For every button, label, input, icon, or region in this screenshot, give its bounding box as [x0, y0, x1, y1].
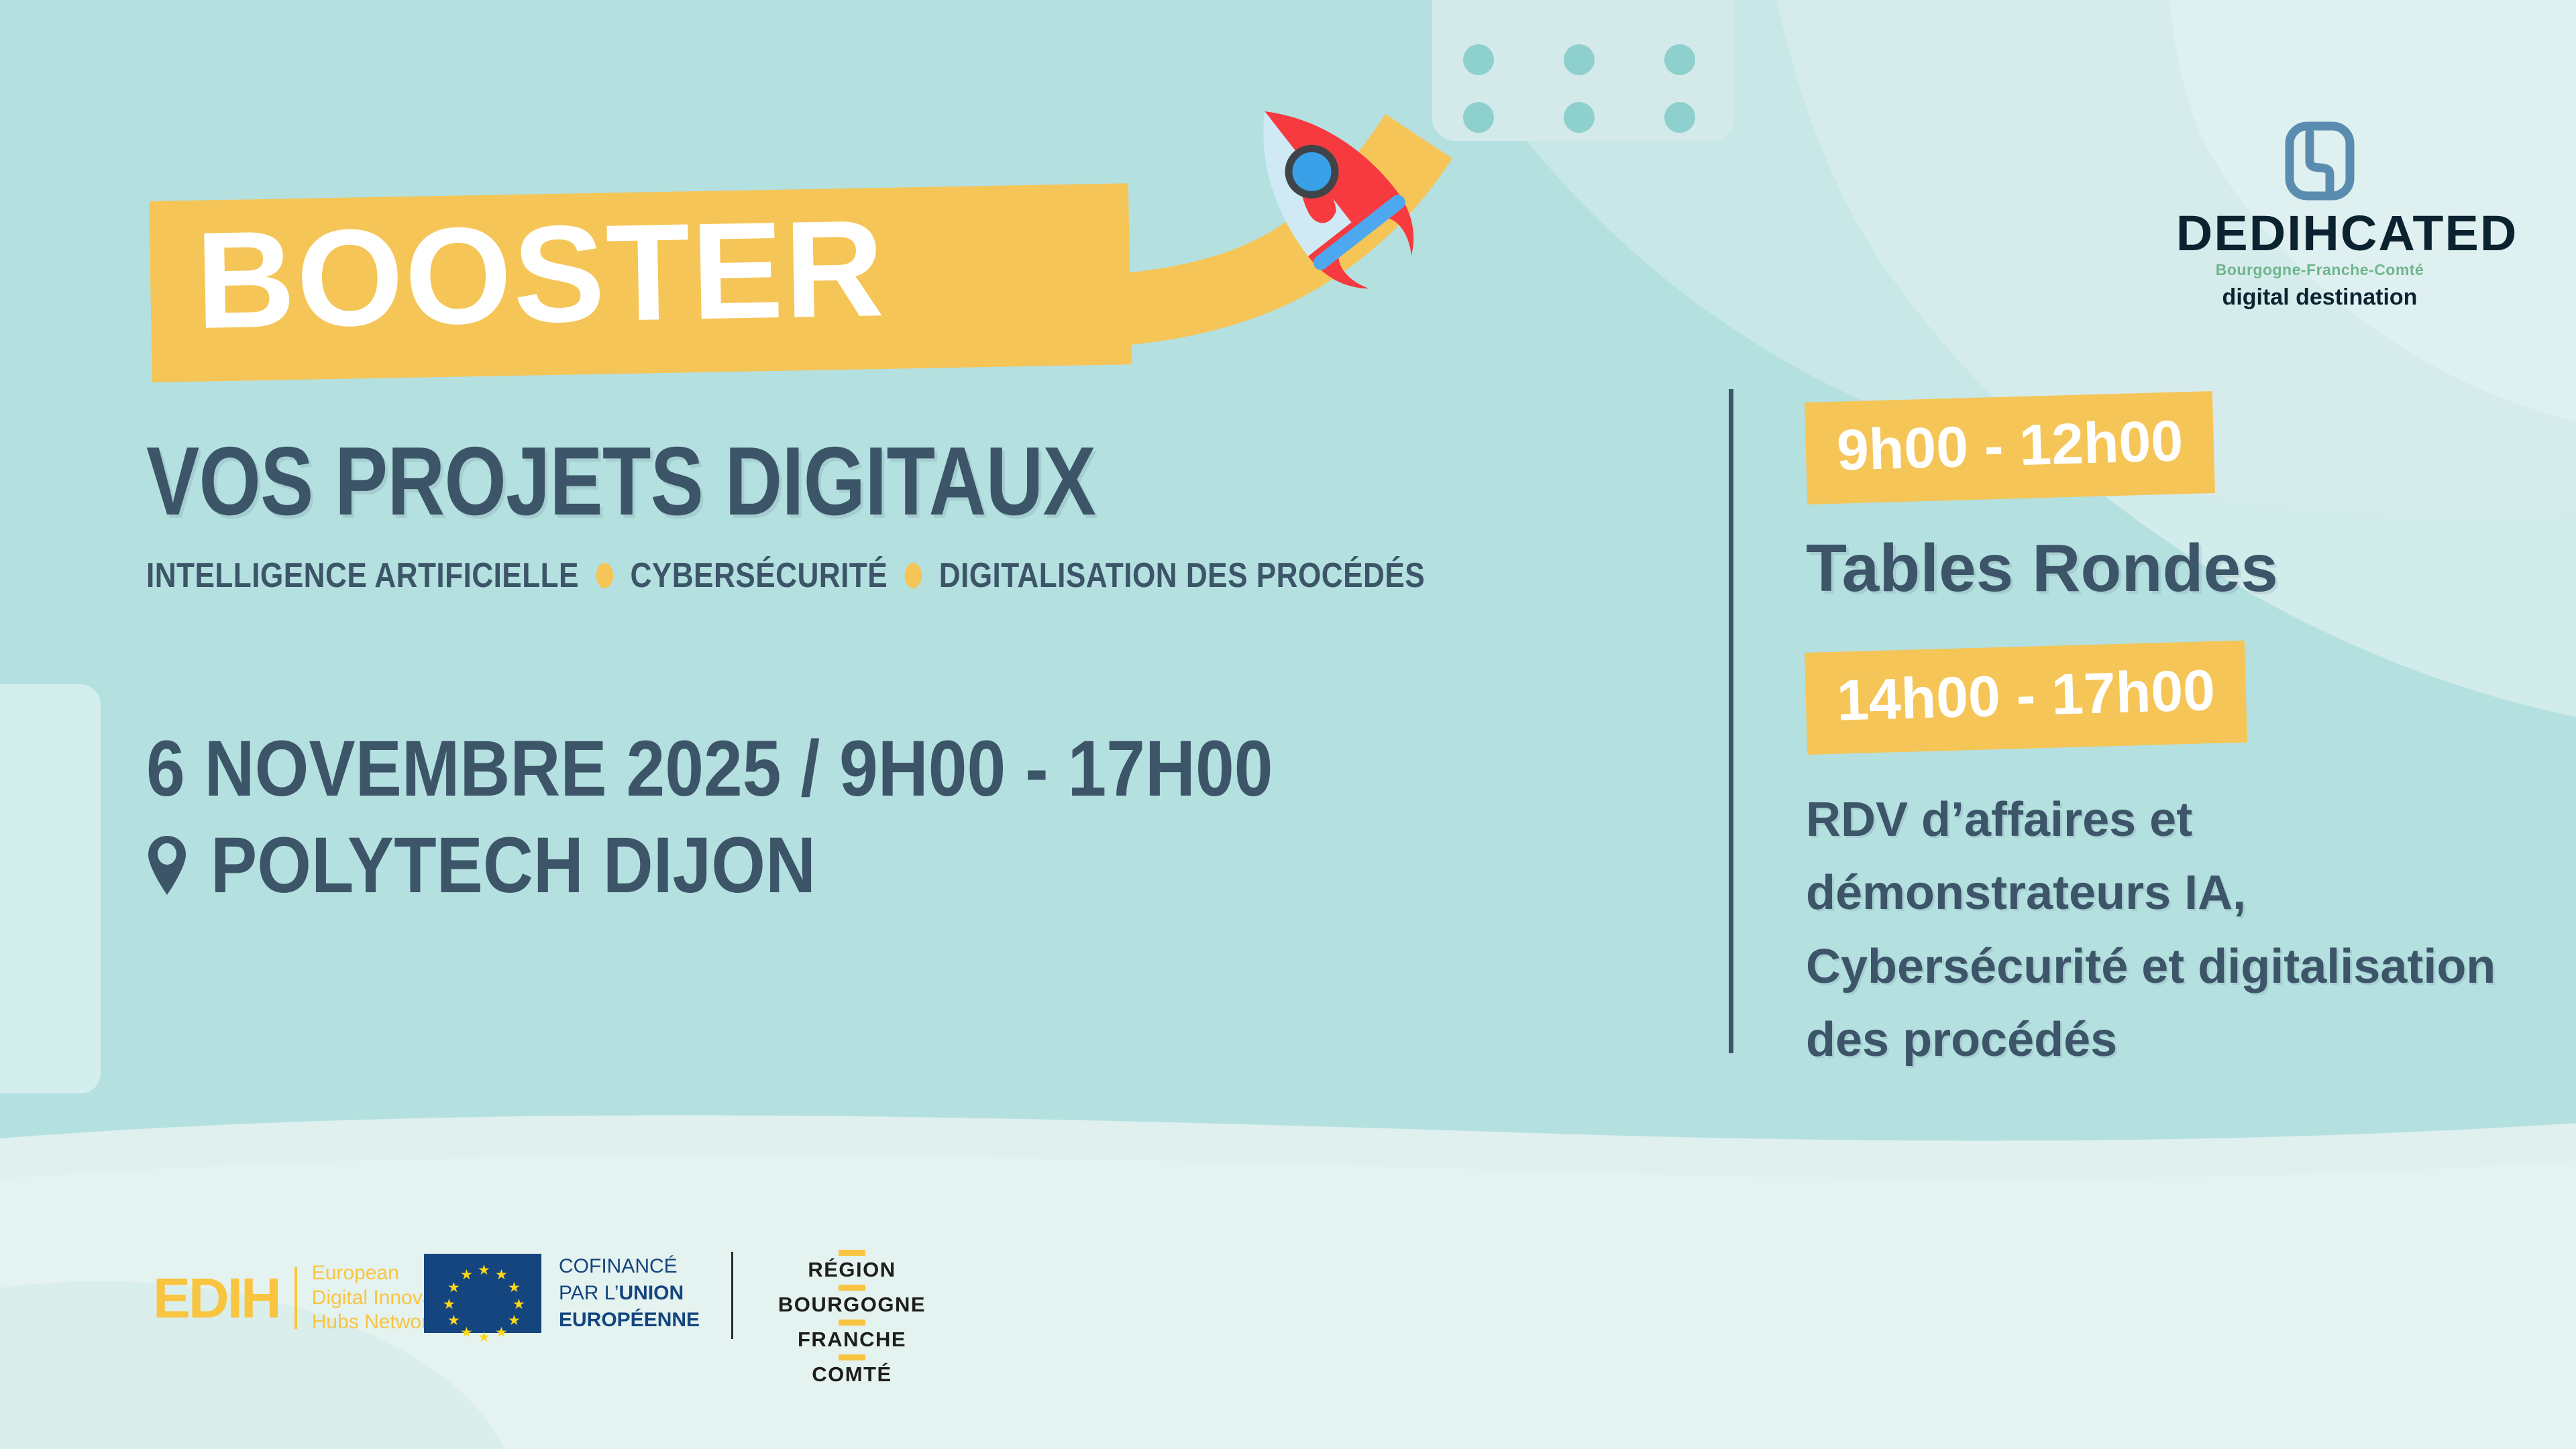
booster-word: BOOSTER	[195, 199, 886, 350]
edih-logo: EDIH European Digital Innovation Hubs Ne…	[153, 1261, 466, 1335]
schedule-time-badge-afternoon: 14h00 - 17h00	[1805, 641, 2247, 755]
event-location: POLYTECH DIJON	[146, 820, 898, 911]
eu-flag-icon: ★ ★ ★ ★ ★ ★ ★ ★ ★ ★ ★ ★	[424, 1254, 541, 1333]
eu-line2-plain: PAR L’	[559, 1282, 619, 1304]
region-line4: COMTÉ	[765, 1364, 939, 1386]
keyword-ai: INTELLIGENCE ARTIFICIELLE	[146, 555, 579, 596]
region-line1: RÉGION	[765, 1259, 939, 1281]
keyword-digitalisation: DIGITALISATION DES PROCÉDÉS	[939, 555, 1425, 596]
dedihcated-monogram-icon	[2283, 121, 2357, 201]
eu-line3-bold: EUROPÉENNE	[559, 1309, 700, 1331]
schedule-time-badge-morning: 9h00 - 12h00	[1805, 391, 2215, 504]
schedule-description-afternoon: RDV d’affaires et démonstrateurs IA, Cyb…	[1806, 784, 2530, 1077]
region-line3: FRANCHE	[765, 1329, 939, 1351]
eu-funding-logo: ★ ★ ★ ★ ★ ★ ★ ★ ★ ★ ★ ★ COFINANCÉ PAR L’…	[424, 1253, 700, 1334]
eu-line1: COFINANCÉ	[559, 1255, 678, 1277]
region-dash	[839, 1250, 865, 1256]
edih-subtitle-line1: European	[312, 1262, 399, 1284]
dedihcated-tagline: digital destination	[2179, 286, 2461, 309]
keyword-cybersecurity: CYBERSÉCURITÉ	[630, 555, 888, 596]
poster-canvas: BOOSTER VOS PROJETS DIGITAUX INTELLIGENC…	[0, 0, 2576, 1449]
section-divider	[1729, 389, 1733, 1053]
footer-divider	[731, 1252, 733, 1339]
region-dash	[839, 1320, 865, 1326]
page-title: VOS PROJETS DIGITAUX	[146, 433, 1095, 530]
region-line2: BOURGOGNE	[765, 1294, 939, 1316]
dedihcated-name: DEDIHCATED	[2176, 209, 2463, 258]
eu-funding-text: COFINANCÉ PAR L’UNION EUROPÉENNE	[559, 1253, 700, 1334]
event-date-time: 6 NOVEMBRE 2025 / 9H00 - 17H00	[146, 723, 1273, 814]
keyword-strip: INTELLIGENCE ARTIFICIELLE CYBERSÉCURITÉ …	[146, 555, 1425, 596]
region-dash	[839, 1285, 865, 1291]
bullet-dot-icon	[596, 563, 613, 588]
schedule-title-morning: Tables Rondes	[1806, 530, 2278, 607]
eu-line2-bold: UNION	[619, 1282, 684, 1304]
edih-wordmark: EDIH	[153, 1270, 280, 1326]
region-dash	[839, 1354, 865, 1360]
dedihcated-region: Bourgogne-Franche-Comté	[2179, 262, 2461, 278]
bullet-dot-icon	[905, 563, 922, 588]
edih-subtitle-line3: Hubs Network	[312, 1311, 438, 1333]
map-pin-icon	[146, 835, 188, 896]
region-bfc-logo: RÉGION BOURGOGNE FRANCHE COMTÉ	[765, 1246, 939, 1385]
dedihcated-logo: DEDIHCATED Bourgogne-Franche-Comté digit…	[2179, 121, 2461, 309]
event-location-label: POLYTECH DIJON	[211, 820, 816, 911]
edih-divider	[294, 1267, 297, 1329]
